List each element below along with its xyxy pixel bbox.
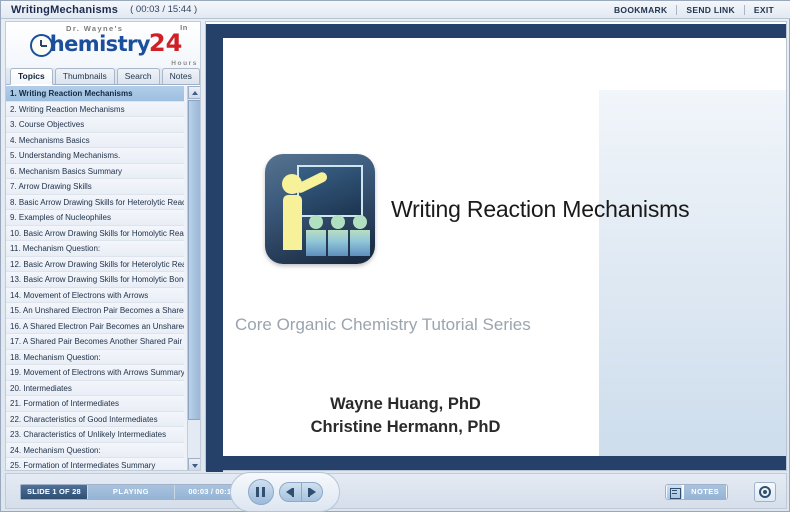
list-item[interactable]: 11. Mechanism Question:: [6, 241, 184, 257]
next-icon: [310, 488, 316, 496]
fullscreen-icon: [759, 486, 771, 498]
list-item[interactable]: 21. Formation of Intermediates: [6, 396, 184, 412]
list-item[interactable]: 5. Understanding Mechanisms.: [6, 148, 184, 164]
step-button-group: [279, 482, 323, 502]
student-body-icon: [306, 230, 326, 256]
list-item[interactable]: 1. Writing Reaction Mechanisms: [6, 86, 184, 102]
list-item[interactable]: 15. An Unshared Electron Pair Becomes a …: [6, 303, 184, 319]
student-icon: [350, 215, 370, 256]
list-item[interactable]: 24. Mechanism Question:: [6, 443, 184, 459]
topic-list: 1. Writing Reaction Mechanisms 2. Writin…: [6, 86, 184, 470]
scroll-up-button[interactable]: [188, 86, 200, 99]
slide-canvas: Writing Reaction Mechanisms Core Organic…: [223, 38, 786, 456]
brand-logo: Dr. Wayne's Chemistry 24 In Hours: [6, 22, 200, 68]
next-slide-button[interactable]: [301, 483, 322, 501]
list-item[interactable]: 13. Basic Arrow Drawing Skills for Homol…: [6, 272, 184, 288]
chevron-down-icon: [192, 464, 198, 468]
list-item[interactable]: 23. Characteristics of Unlikely Intermed…: [6, 427, 184, 443]
scrollbar-thumb[interactable]: [188, 100, 200, 420]
previous-slide-button[interactable]: [280, 483, 301, 501]
list-item[interactable]: 20. Intermediates: [6, 381, 184, 397]
slide-background-tint: [599, 38, 786, 456]
bookmark-button[interactable]: BOOKMARK: [605, 5, 676, 15]
logo-hours-text: Hours: [171, 60, 198, 67]
list-item[interactable]: 2. Writing Reaction Mechanisms: [6, 102, 184, 118]
notes-button[interactable]: NOTES: [665, 484, 728, 500]
logo-wordmark: Chemistry 24: [32, 32, 182, 56]
logo-in-text: In: [180, 23, 188, 32]
list-item[interactable]: 17. A Shared Pair Becomes Another Shared…: [6, 334, 184, 350]
logo-number: 24: [149, 32, 182, 54]
list-item[interactable]: 3. Course Objectives: [6, 117, 184, 133]
tab-notes[interactable]: Notes: [162, 68, 200, 84]
clock-icon: [30, 34, 53, 57]
play-state-label: PLAYING: [87, 485, 175, 499]
slide-background-top: [599, 38, 786, 90]
topic-list-container: 1. Writing Reaction Mechanisms 2. Writin…: [6, 85, 200, 470]
slide-authors: Wayne Huang, PhD Christine Hermann, PhD: [223, 393, 588, 439]
student-icon: [328, 215, 348, 256]
course-elapsed-time: ( 00:03 / 15:44 ): [130, 4, 197, 15]
list-item[interactable]: 10. Basic Arrow Drawing Skills for Homol…: [6, 226, 184, 242]
tab-search[interactable]: Search: [117, 68, 160, 84]
list-item[interactable]: 19. Movement of Electrons with Arrows Su…: [6, 365, 184, 381]
list-item[interactable]: 4. Mechanisms Basics: [6, 133, 184, 149]
pause-button[interactable]: [248, 479, 274, 505]
pause-icon-bar: [262, 487, 265, 497]
list-item[interactable]: 12. Basic Arrow Drawing Skills for Heter…: [6, 257, 184, 273]
transport-controls: [230, 472, 340, 512]
slide-counter: SLIDE 1 OF 28: [21, 485, 87, 499]
slide-frame-left: [206, 24, 223, 472]
blackboard-icon: [297, 165, 363, 217]
author-secondary: Christine Hermann, PhD: [223, 416, 588, 439]
scroll-down-button[interactable]: [188, 458, 200, 470]
tab-topics[interactable]: Topics: [10, 68, 53, 85]
slide-title: Writing Reaction Mechanisms: [391, 196, 786, 223]
exit-button[interactable]: EXIT: [744, 5, 783, 15]
list-item[interactable]: 8. Basic Arrow Drawing Skills for Hetero…: [6, 195, 184, 211]
teacher-body-icon: [283, 195, 302, 250]
list-item[interactable]: 25. Formation of Intermediates Summary: [6, 458, 184, 470]
slide-subtitle: Core Organic Chemistry Tutorial Series: [235, 315, 531, 335]
course-title: WritingMechanisms: [11, 4, 118, 16]
pause-icon-bar: [256, 487, 259, 497]
list-item[interactable]: 16. A Shared Electron Pair Becomes an Un…: [6, 319, 184, 335]
list-item[interactable]: 22. Characteristics of Good Intermediate…: [6, 412, 184, 428]
topic-list-scrollbar[interactable]: [187, 86, 200, 470]
student-body-icon: [350, 230, 370, 256]
list-item[interactable]: 18. Mechanism Question:: [6, 350, 184, 366]
student-head-icon: [309, 215, 323, 229]
slide-frame-top: [206, 24, 786, 38]
author-primary: Wayne Huang, PhD: [223, 393, 588, 416]
player-control-bar: SLIDE 1 OF 28 PLAYING 00:03 / 00:12 NOTE…: [5, 473, 787, 509]
navigation-panel: Dr. Wayne's Chemistry 24 In Hours Topics…: [5, 21, 201, 471]
list-item[interactable]: 6. Mechanism Basics Summary: [6, 164, 184, 180]
fullscreen-button[interactable]: [754, 482, 776, 502]
notes-button-label: NOTES: [684, 485, 726, 499]
notes-icon: [667, 485, 682, 499]
tab-thumbnails[interactable]: Thumbnails: [55, 68, 115, 84]
title-bar: WritingMechanisms ( 00:03 / 15:44 ) BOOK…: [1, 1, 790, 19]
list-item[interactable]: 14. Movement of Electrons with Arrows: [6, 288, 184, 304]
slide-stage: Writing Reaction Mechanisms Core Organic…: [205, 21, 787, 471]
send-link-button[interactable]: SEND LINK: [676, 5, 744, 15]
classroom-icon: [265, 154, 375, 264]
chevron-up-icon: [192, 91, 198, 95]
logo-inner: Dr. Wayne's Chemistry 24: [32, 24, 182, 56]
previous-icon-bar: [292, 488, 294, 497]
panel-tabs: Topics Thumbnails Search Notes: [6, 68, 200, 85]
student-head-icon: [331, 215, 345, 229]
list-item[interactable]: 9. Examples of Nucleophiles: [6, 210, 184, 226]
student-body-icon: [328, 230, 348, 256]
list-item[interactable]: 7. Arrow Drawing Skills: [6, 179, 184, 195]
course-player-window: WritingMechanisms ( 00:03 / 15:44 ) BOOK…: [0, 0, 790, 512]
title-actions: BOOKMARK SEND LINK EXIT: [605, 5, 783, 15]
slide-frame-bottom: [206, 456, 786, 470]
student-icon: [306, 215, 326, 256]
student-head-icon: [353, 215, 367, 229]
player-status-strip: SLIDE 1 OF 28 PLAYING 00:03 / 00:12: [20, 484, 250, 500]
